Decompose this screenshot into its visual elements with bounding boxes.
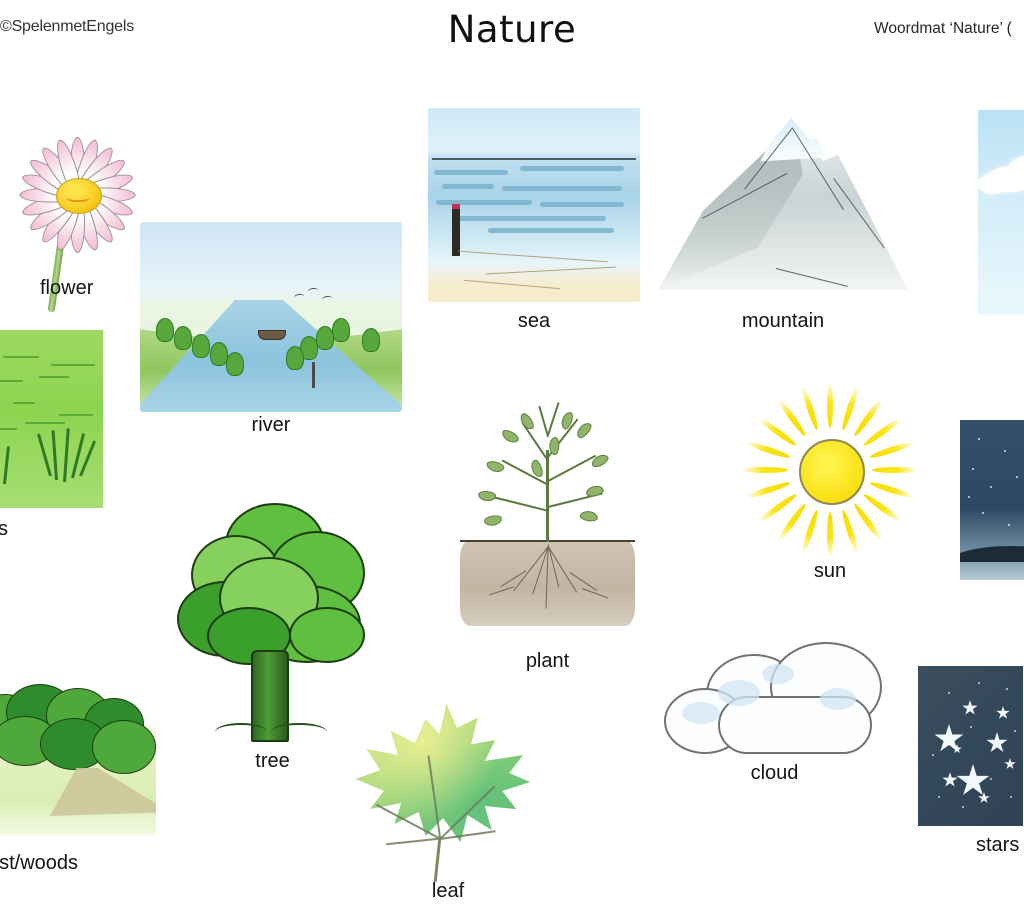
grass-field-icon [0, 330, 103, 508]
river-landscape-icon [140, 222, 402, 412]
forest-path [50, 768, 156, 816]
forest-woods-icon [0, 660, 156, 835]
sea-horizon [432, 158, 636, 160]
sun-disc [799, 439, 865, 505]
item-leaf: leaf [348, 700, 548, 908]
stars-night-icon [918, 666, 1023, 826]
item-plant: plant [460, 410, 635, 685]
worksheet-page: ©SpelenmetEngels Nature Woordmat ‘Nature… [0, 0, 1024, 908]
sea-post [452, 208, 460, 256]
night-sky-icon [960, 420, 1024, 580]
label-sea: sea [428, 310, 640, 333]
river-boat [258, 330, 286, 340]
leaf-stalk [434, 838, 441, 882]
plant-stem [546, 450, 549, 542]
sky-clouds-icon [978, 110, 1024, 315]
item-mountain: mountain [658, 118, 908, 348]
label-grass: s [0, 518, 8, 541]
daisy-flower-icon [0, 95, 160, 295]
sun-icon [740, 382, 920, 557]
item-river: river [140, 222, 402, 437]
tree-icon [165, 495, 375, 765]
label-plant: plant [460, 650, 635, 673]
leaf-blade [356, 704, 530, 854]
sea-beach-icon [428, 108, 640, 302]
label-forest: est/woods [0, 852, 78, 875]
cloud-icon [662, 640, 877, 755]
page-title: Nature [0, 8, 1024, 51]
label-sun: sun [740, 560, 920, 583]
worksheet-note: Woordmat ‘Nature’ ( [874, 20, 1012, 38]
item-sun: sun [740, 382, 920, 592]
river-pole [312, 362, 315, 388]
item-forest: est/woods [0, 660, 168, 890]
mountain-peak-icon [658, 118, 908, 298]
label-river: river [140, 414, 402, 437]
item-cloud: cloud [662, 640, 887, 800]
label-stars: stars [976, 834, 1019, 857]
maple-leaf-icon [348, 700, 538, 890]
night-landmass [960, 546, 1024, 562]
item-stars: stars [918, 666, 1024, 866]
item-grass: s [0, 330, 113, 555]
item-sea: sea [428, 108, 640, 348]
flower-center [56, 178, 102, 214]
label-leaf: leaf [348, 880, 548, 903]
label-mountain: mountain [658, 310, 908, 333]
label-flower: flower [40, 277, 93, 300]
item-sky [978, 110, 1024, 315]
plant-with-roots-icon [460, 410, 635, 635]
label-cloud: cloud [662, 762, 887, 785]
item-night [960, 420, 1024, 580]
